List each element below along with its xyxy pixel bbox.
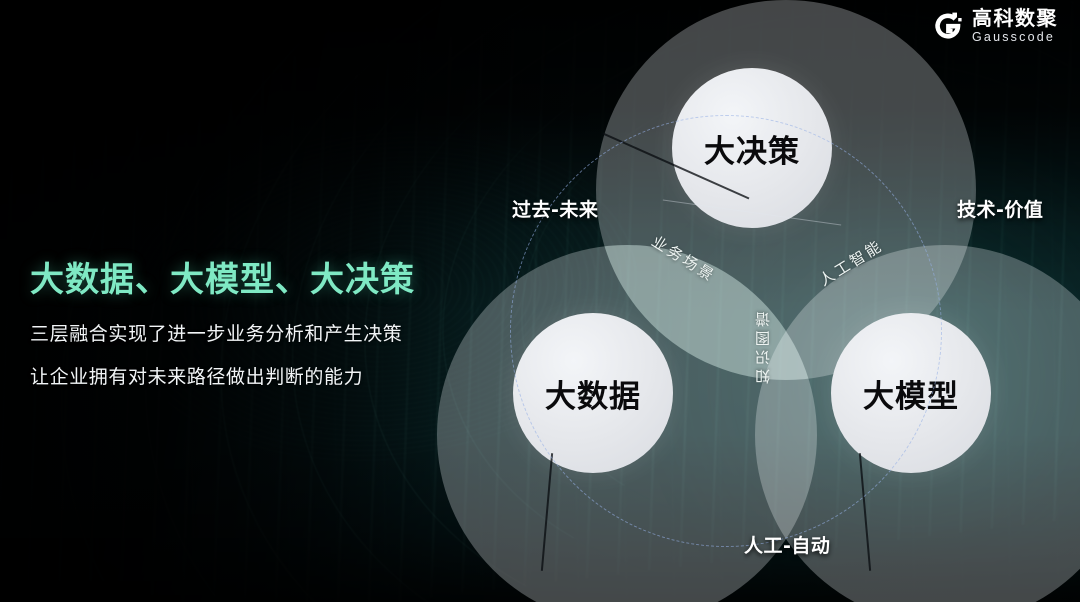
gausscode-circle-mark-icon <box>933 11 963 41</box>
venn-node-bigdata[interactable]: 大数据 <box>513 313 673 473</box>
venn-diagram: 大决策 大数据 大模型 业务场景 人工智能 知识图谱 <box>400 0 1080 602</box>
brand-name-en: Gausscode <box>972 31 1058 44</box>
brand-name-cn: 高科数聚 <box>972 8 1058 28</box>
brand-logo[interactable]: 高科数聚 Gausscode <box>933 8 1058 44</box>
venn-node-bigdata-label: 大数据 <box>545 371 641 416</box>
venn-node-bigmodel-label: 大模型 <box>863 371 959 416</box>
venn-overlap-label-knowledge: 知识图谱 <box>752 308 773 384</box>
venn-node-bigmodel[interactable]: 大模型 <box>831 313 991 473</box>
subtitle-line-2: 让企业拥有对未来路径做出判断的能力 <box>30 362 415 389</box>
slide-canvas: 高科数聚 Gausscode 大数据、大模型、大决策 三层融合实现了进一步业务分… <box>0 0 1080 602</box>
axis-label-manual-auto: 人工-自动 <box>744 531 830 558</box>
axis-label-past-future: 过去-未来 <box>512 195 598 222</box>
axis-label-tech-value: 技术-价值 <box>957 195 1043 222</box>
headline-block: 大数据、大模型、大决策 三层融合实现了进一步业务分析和产生决策 让企业拥有对未来… <box>30 252 415 405</box>
brand-logo-text: 高科数聚 Gausscode <box>972 8 1058 44</box>
venn-node-decision-label: 大决策 <box>704 126 800 171</box>
subtitle-line-1: 三层融合实现了进一步业务分析和产生决策 <box>30 319 415 346</box>
page-title: 大数据、大模型、大决策 <box>30 252 415 301</box>
